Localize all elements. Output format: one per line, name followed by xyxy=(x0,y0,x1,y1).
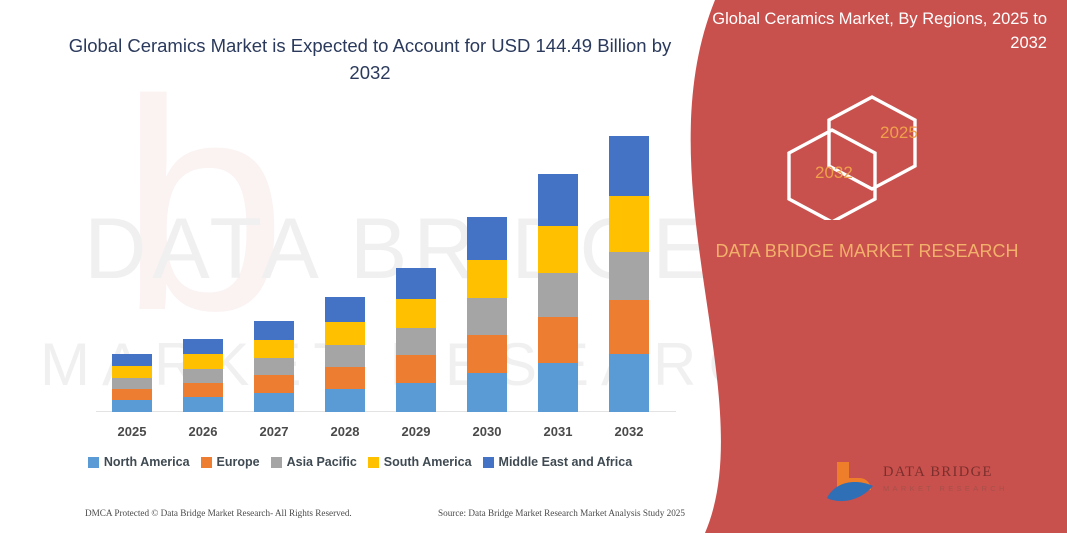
bar-segment[interactable] xyxy=(183,339,223,354)
bar-segment[interactable] xyxy=(609,136,649,196)
bar-segment[interactable] xyxy=(325,367,365,389)
x-axis-label: 2030 xyxy=(457,424,517,439)
bar-group[interactable] xyxy=(396,268,436,412)
legend-item[interactable]: Middle East and Africa xyxy=(483,455,633,469)
legend-label: Asia Pacific xyxy=(287,455,357,469)
footer-copyright: DMCA Protected © Data Bridge Market Rese… xyxy=(85,508,352,518)
bar-segment[interactable] xyxy=(112,378,152,389)
x-axis-label: 2025 xyxy=(102,424,162,439)
bar-segment[interactable] xyxy=(609,300,649,354)
bar-segment[interactable] xyxy=(112,366,152,378)
bar-group[interactable] xyxy=(609,136,649,412)
x-axis-label: 2028 xyxy=(315,424,375,439)
bar-segment[interactable] xyxy=(467,298,507,335)
chart-legend: North AmericaEuropeAsia PacificSouth Ame… xyxy=(0,455,720,469)
legend-swatch xyxy=(483,457,494,468)
bar-segment[interactable] xyxy=(112,354,152,366)
bar-group[interactable] xyxy=(112,354,152,412)
legend-item[interactable]: Europe xyxy=(201,455,260,469)
legend-label: North America xyxy=(104,455,190,469)
logo-subtitle: MARKET RESEARCH xyxy=(883,484,1008,493)
x-axis-labels: 20252026202720282029203020312032 xyxy=(96,424,676,446)
legend-item[interactable]: South America xyxy=(368,455,472,469)
bar-segment[interactable] xyxy=(254,321,294,340)
legend-label: Middle East and Africa xyxy=(499,455,633,469)
bar-segment[interactable] xyxy=(467,217,507,260)
x-axis-label: 2031 xyxy=(528,424,588,439)
bar-group[interactable] xyxy=(254,321,294,412)
x-axis-label: 2026 xyxy=(173,424,233,439)
bar-segment[interactable] xyxy=(112,389,152,400)
logo: DATA BRIDGE MARKET RESEARCH xyxy=(825,460,1035,508)
bar-segment[interactable] xyxy=(396,328,436,355)
bar-segment[interactable] xyxy=(254,358,294,375)
bar-segment[interactable] xyxy=(325,345,365,367)
bar-segment[interactable] xyxy=(467,373,507,412)
logo-title: DATA BRIDGE xyxy=(883,464,993,481)
legend-item[interactable]: Asia Pacific xyxy=(271,455,357,469)
infographic-root: b DATA BRIDGE MARKET RESEARCH Global Cer… xyxy=(0,0,1067,533)
footer-source: Source: Data Bridge Market Research Mark… xyxy=(438,508,685,518)
bar-segment[interactable] xyxy=(325,322,365,345)
bar-segment[interactable] xyxy=(538,174,578,226)
bar-segment[interactable] xyxy=(609,252,649,300)
bar-segment[interactable] xyxy=(396,299,436,328)
bar-segment[interactable] xyxy=(538,226,578,273)
brand-name: DATA BRIDGE MARKET RESEARCH xyxy=(697,238,1037,265)
side-panel-content: Global Ceramics Market, By Regions, 2025… xyxy=(667,0,1067,533)
logo-mark-icon xyxy=(825,460,881,504)
hexagon-label-newer: 2025 xyxy=(880,123,918,143)
bar-segment[interactable] xyxy=(183,354,223,369)
bar-segment[interactable] xyxy=(183,383,223,397)
legend-label: South America xyxy=(384,455,472,469)
footer: DMCA Protected © Data Bridge Market Rese… xyxy=(85,508,685,518)
bar-segment[interactable] xyxy=(325,389,365,412)
bar-segment[interactable] xyxy=(112,400,152,412)
bar-segment[interactable] xyxy=(467,260,507,298)
bar-group[interactable] xyxy=(183,339,223,412)
bar-segment[interactable] xyxy=(538,317,578,363)
x-axis-label: 2027 xyxy=(244,424,304,439)
side-panel: Global Ceramics Market, By Regions, 2025… xyxy=(667,0,1067,533)
bar-segment[interactable] xyxy=(396,383,436,412)
bar-group[interactable] xyxy=(538,174,578,412)
x-axis-label: 2032 xyxy=(599,424,659,439)
legend-swatch xyxy=(88,457,99,468)
hexagon-outlines xyxy=(777,95,967,220)
bar-segment[interactable] xyxy=(183,397,223,412)
chart-panel: Global Ceramics Market is Expected to Ac… xyxy=(0,0,720,533)
bar-segment[interactable] xyxy=(538,273,578,317)
bar-segment[interactable] xyxy=(396,355,436,383)
bar-segment[interactable] xyxy=(254,375,294,393)
panel-title: Global Ceramics Market, By Regions, 2025… xyxy=(707,8,1047,56)
legend-swatch xyxy=(201,457,212,468)
hexagon-label-older: 2032 xyxy=(815,163,853,183)
bar-group[interactable] xyxy=(325,297,365,412)
legend-label: Europe xyxy=(217,455,260,469)
bar-group[interactable] xyxy=(467,217,507,412)
page-title: Global Ceramics Market is Expected to Ac… xyxy=(60,33,680,87)
x-axis-label: 2029 xyxy=(386,424,446,439)
stacked-bar-chart xyxy=(96,120,676,412)
legend-item[interactable]: North America xyxy=(88,455,190,469)
bar-segment[interactable] xyxy=(254,340,294,358)
bar-segment[interactable] xyxy=(538,363,578,412)
legend-swatch xyxy=(271,457,282,468)
bar-segment[interactable] xyxy=(325,297,365,322)
bar-segment[interactable] xyxy=(254,393,294,412)
hexagon-badges: 2025 2032 xyxy=(777,95,967,220)
bar-segment[interactable] xyxy=(183,369,223,383)
bar-segment[interactable] xyxy=(467,335,507,373)
bar-segment[interactable] xyxy=(396,268,436,299)
bar-segment[interactable] xyxy=(609,196,649,252)
bar-segment[interactable] xyxy=(609,354,649,412)
legend-swatch xyxy=(368,457,379,468)
